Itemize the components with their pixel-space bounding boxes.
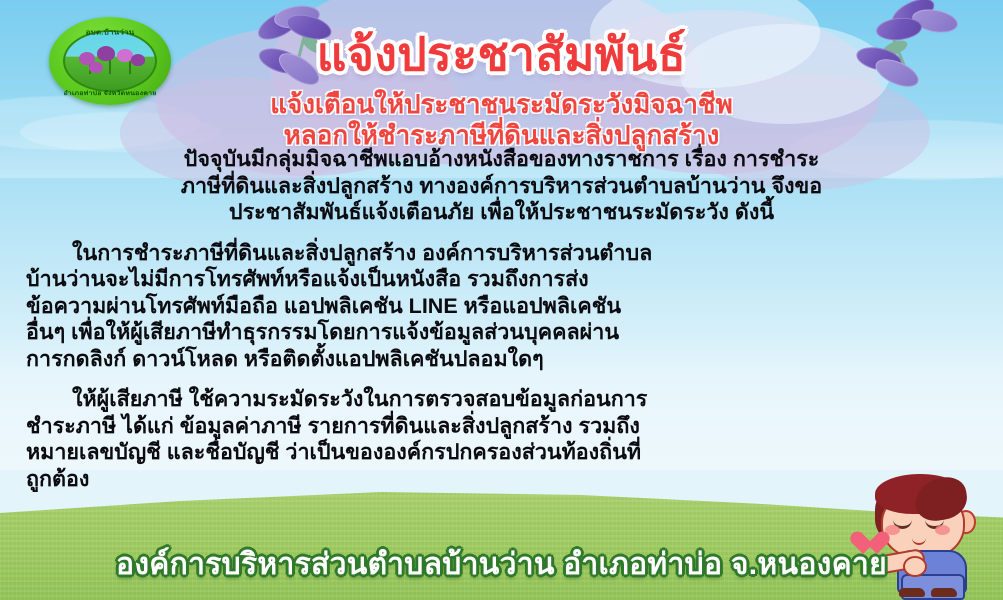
paragraph-3-line-1-text: ให้ผู้เสียภาษี ใช้ความระมัดระวังในการตรว… (72, 387, 647, 411)
paragraph-2-line-3: ข้อความผ่านโทรศัพท์มือถือ แอปพลิเคชัน LI… (26, 293, 977, 320)
body-copy: ปัจจุบันมีกลุ่มมิจฉาชีพแอบอ้างหนังสือของ… (26, 146, 977, 501)
paragraph-2: ในการชำระภาษีที่ดินและสิ่งปลูกสร้าง องค์… (26, 240, 977, 373)
paragraph-1-line-2: ภาษีที่ดินและสิ่งปลูกสร้าง ทางองค์การบริ… (26, 173, 977, 200)
paragraph-2-line-5: การกดลิงก์ ดาวน์โหลด หรือติดตั้งแอปพลิเค… (26, 346, 977, 373)
boy-shoe-left (899, 588, 925, 597)
paragraph-2-line-1: ในการชำระภาษีที่ดินและสิ่งปลูกสร้าง องค์… (26, 240, 977, 267)
paragraph-1: ปัจจุบันมีกลุ่มมิจฉาชีพแอบอ้างหนังสือของ… (26, 146, 977, 226)
announcement-poster: อบต.บ้านว่าน อำเภอท่าบ่อ จังหวัดหนองคาย … (0, 0, 1003, 600)
paragraph-2-line-1-text: ในการชำระภาษีที่ดินและสิ่งปลูกสร้าง องค์… (72, 241, 652, 265)
paragraph-1-line-1: ปัจจุบันมีกลุ่มมิจฉาชีพแอบอ้างหนังสือของ… (26, 146, 977, 173)
paragraph-3-line-2: ชำระภาษี ได้แก่ ข้อมูลค่าภาษี รายการที่ด… (26, 413, 977, 440)
paragraph-3-line-4: ถูกต้อง (26, 466, 977, 493)
boy-cheek-right (935, 525, 950, 535)
paragraph-1-line-3: ประชาสัมพันธ์แจ้งเตือนภัย เพื่อให้ประชาช… (26, 199, 977, 226)
boy-shoe-right (931, 588, 957, 597)
footer-organization-name: องค์การบริหารส่วนตำบลบ้านว่าน อำเภอท่าบ่… (0, 541, 1003, 588)
paragraph-3-line-1: ให้ผู้เสียภาษี ใช้ความระมัดระวังในการตรว… (26, 386, 977, 413)
paragraph-3: ให้ผู้เสียภาษี ใช้ความระมัดระวังในการตรว… (26, 386, 977, 492)
paragraph-2-line-2: บ้านว่านจะไม่มีการโทรศัพท์หรือแจ้งเป็นหน… (26, 266, 977, 293)
paragraph-3-line-3: หมายเลขบัญชี และชื่อบัญชี ว่าเป็นขององค์… (26, 439, 977, 466)
paragraph-2-line-4: อื่นๆ เพื่อให้ผู้เสียภาษีทำธุรกรรมโดยการ… (26, 319, 977, 346)
page-title: แจ้งประชาสัมพันธ์ (0, 18, 1003, 91)
